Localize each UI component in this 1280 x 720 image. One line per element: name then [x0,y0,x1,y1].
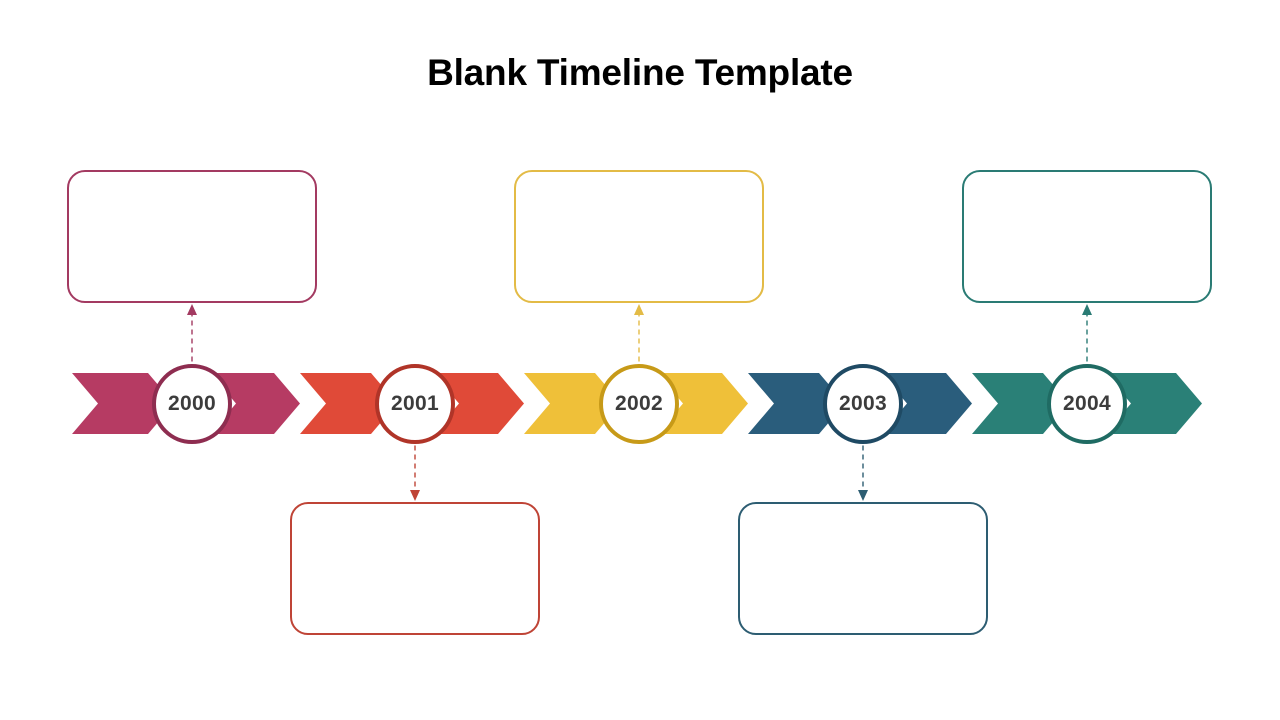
slide-canvas: Blank Timeline Template 2000200120022003… [0,0,1280,720]
milestone-year-label: 2001 [391,393,439,414]
milestone-year-label: 2000 [168,393,216,414]
milestone-year-label: 2003 [839,393,887,414]
content-box-2000[interactable] [67,170,317,303]
content-box-2003[interactable] [738,502,988,635]
content-box-2004[interactable] [962,170,1212,303]
connector-2004 [1082,304,1092,362]
connector-2002 [634,304,644,362]
content-box-2001[interactable] [290,502,540,635]
timeline-chevron-bar [0,0,1280,720]
milestone-circle-2004[interactable]: 2004 [1047,364,1127,444]
connector-arrowhead-2003 [858,490,868,501]
timeline-band [0,0,1280,720]
milestone-circle-2002[interactable]: 2002 [599,364,679,444]
connector-2000 [187,304,197,362]
milestone-circle-2000[interactable]: 2000 [152,364,232,444]
connector-arrowhead-2000 [187,304,197,315]
milestone-circle-2003[interactable]: 2003 [823,364,903,444]
connector-2003 [858,446,868,502]
connector-2001 [410,446,420,502]
milestone-year-label: 2004 [1063,393,1111,414]
milestone-year-label: 2002 [615,393,663,414]
connector-arrowhead-2004 [1082,304,1092,315]
connector-arrowhead-2002 [634,304,644,315]
connector-arrowhead-2001 [410,490,420,501]
milestone-circle-2001[interactable]: 2001 [375,364,455,444]
content-box-2002[interactable] [514,170,764,303]
